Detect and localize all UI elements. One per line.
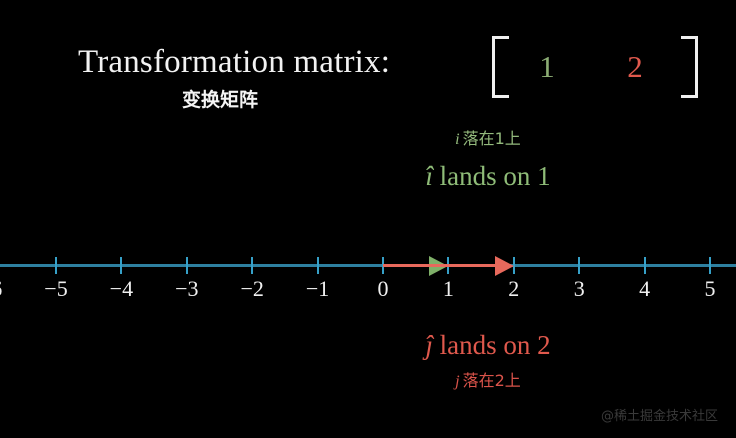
axis-tick-label: 1 bbox=[418, 274, 478, 304]
page-title: Transformation matrix: bbox=[78, 40, 390, 84]
matrix-entry-1: 2 bbox=[610, 44, 660, 90]
matrix-entry-0: 1 bbox=[522, 44, 572, 90]
lesson-slide: Transformation matrix: 变换矩阵 1 2 i落在1上 î … bbox=[0, 0, 736, 438]
number-line: −6−5−4−3−2−1012345 bbox=[0, 236, 736, 312]
j-hat-label-english: ĵ lands on 2 bbox=[268, 328, 708, 362]
i-hat-symbol-chinese: i bbox=[455, 131, 462, 148]
j-hat-annotation: ĵ lands on 2 j落在2上 bbox=[268, 328, 708, 395]
axis-tick bbox=[578, 257, 580, 274]
axis-tick-label: −1 bbox=[288, 274, 348, 304]
axis-tick-label: 4 bbox=[615, 274, 675, 304]
i-hat-label-english: î lands on 1 bbox=[268, 159, 708, 193]
j-hat-text: lands on 2 bbox=[433, 330, 551, 360]
i-hat-text-chinese: 落在1上 bbox=[463, 129, 521, 148]
matrix-right-bracket-icon bbox=[681, 36, 698, 98]
j-hat-symbol: ĵ bbox=[425, 330, 433, 360]
i-hat-annotation: i落在1上 î lands on 1 bbox=[268, 126, 708, 193]
axis-tick bbox=[317, 257, 319, 274]
j-hat-label-chinese: j落在2上 bbox=[268, 368, 708, 395]
axis-tick-label: −6 bbox=[0, 274, 21, 304]
axis-tick-label: −2 bbox=[222, 274, 282, 304]
j-hat-text-chinese: 落在2上 bbox=[463, 371, 521, 390]
page-title-chinese: 变换矩阵 bbox=[0, 88, 440, 112]
watermark: @稀土掘金技术社区 bbox=[601, 408, 718, 426]
axis-tick bbox=[55, 257, 57, 274]
j-hat-symbol-chinese: j bbox=[455, 373, 462, 390]
i-hat-symbol: î bbox=[425, 161, 433, 191]
i-hat-label-chinese: i落在1上 bbox=[268, 126, 708, 153]
axis-tick bbox=[251, 257, 253, 274]
axis-tick bbox=[709, 257, 711, 274]
axis-tick-label: −4 bbox=[91, 274, 151, 304]
axis-tick-label: −3 bbox=[157, 274, 217, 304]
axis-tick-label: 5 bbox=[680, 274, 736, 304]
axis-tick-label: 2 bbox=[484, 274, 544, 304]
axis-tick bbox=[186, 257, 188, 274]
axis-tick-label: −5 bbox=[26, 274, 86, 304]
number-line-axis bbox=[0, 264, 736, 267]
axis-tick bbox=[120, 257, 122, 274]
matrix-left-bracket-icon bbox=[492, 36, 509, 98]
axis-tick-label: 3 bbox=[549, 274, 609, 304]
transformation-matrix: 1 2 bbox=[492, 36, 698, 98]
i-hat-text: lands on 1 bbox=[433, 161, 551, 191]
j-hat-vector-arrow bbox=[495, 256, 514, 276]
axis-tick bbox=[644, 257, 646, 274]
axis-tick-label: 0 bbox=[353, 274, 413, 304]
j-hat-vector-line bbox=[383, 264, 500, 267]
